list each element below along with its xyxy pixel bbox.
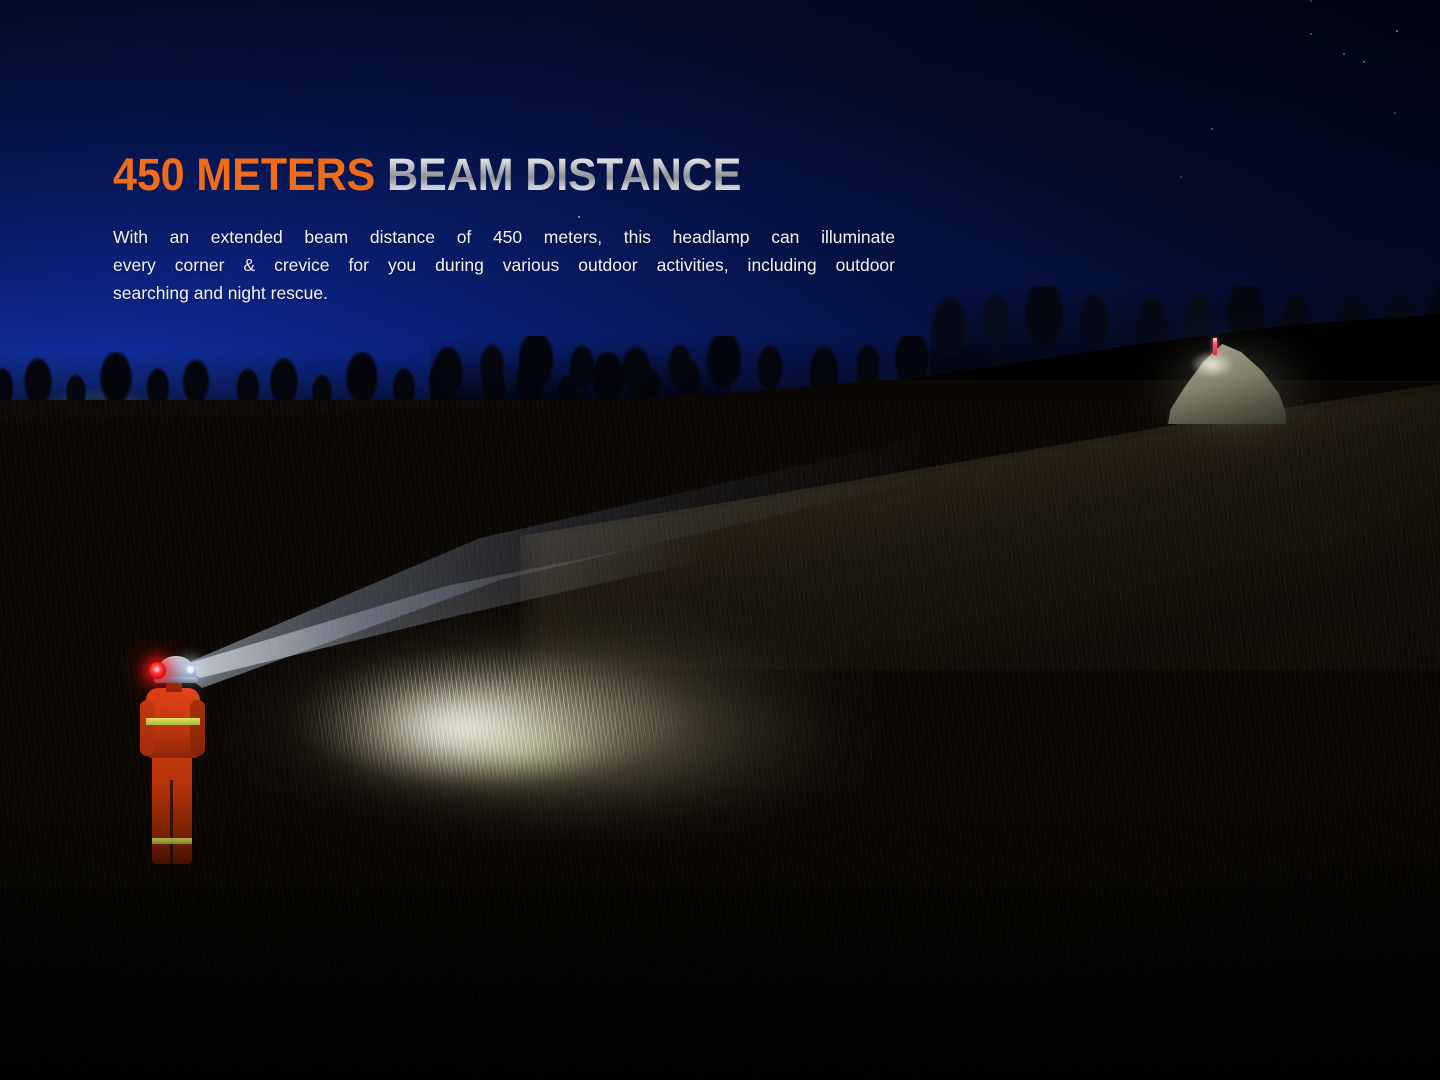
description-text: With an extended beam distance of 450 me…	[113, 223, 895, 307]
star	[1343, 53, 1345, 55]
star	[1180, 176, 1182, 178]
rescue-worker	[138, 652, 212, 864]
worker-leg-split	[170, 780, 173, 864]
star	[1396, 30, 1398, 32]
worker-arm-right	[190, 700, 205, 756]
rock-highlight	[1190, 344, 1234, 378]
headline-rest: BEAM DISTANCE	[375, 149, 741, 200]
star	[1310, 33, 1312, 35]
reflective-stripe-leg	[152, 838, 192, 844]
copy-block: 450 METERS BEAM DISTANCE With an extende…	[113, 152, 895, 307]
hero-banner: 450 METERS BEAM DISTANCE With an extende…	[0, 0, 1440, 1080]
worker-arm-left	[140, 700, 155, 756]
headline-highlight: 450 METERS	[113, 149, 375, 200]
rear-red-led-icon	[149, 662, 166, 679]
star	[1211, 128, 1213, 130]
star	[1363, 61, 1365, 63]
description-line-2: every corner & crevice for you during va…	[113, 251, 895, 279]
reflective-stripe-chest	[146, 718, 200, 725]
green-ground-patch	[420, 720, 650, 778]
headlamp-emitter-icon	[186, 665, 195, 674]
star	[1394, 112, 1396, 114]
description-line-1: With an extended beam distance of 450 me…	[113, 223, 895, 251]
description-line-3: searching and night rescue.	[113, 279, 895, 307]
page-title: 450 METERS BEAM DISTANCE	[113, 152, 864, 197]
star	[1310, 0, 1312, 2]
distant-target-figure	[1213, 338, 1217, 355]
